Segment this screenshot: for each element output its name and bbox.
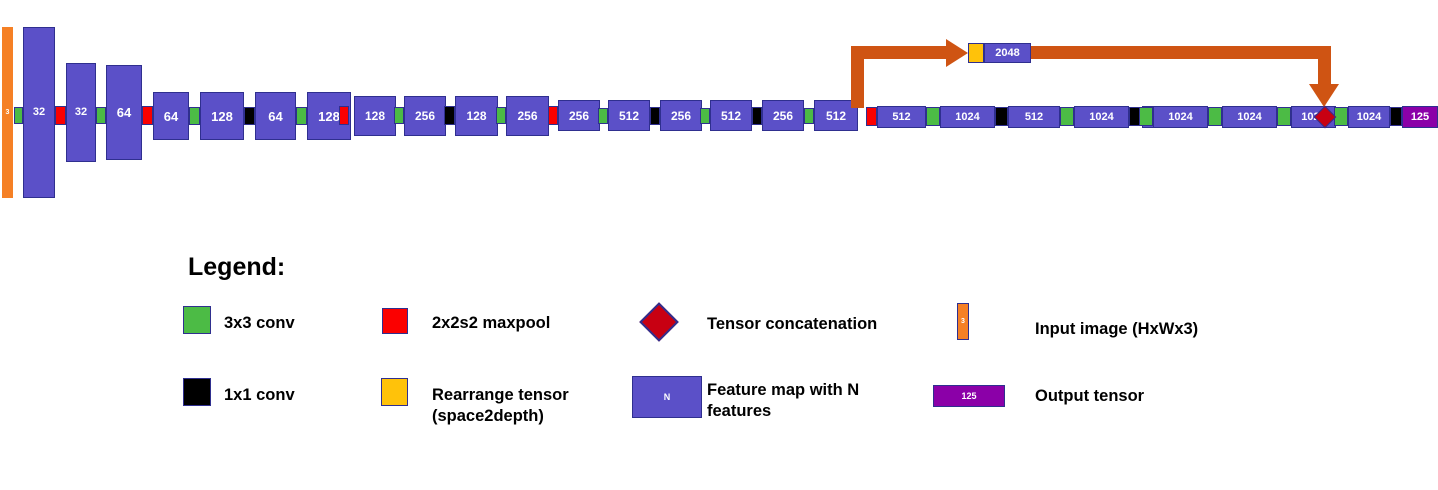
legend-swatch-conv1x1 [183,378,211,406]
legend-swatch-maxpool [382,308,408,334]
legend-label-feature-map: Feature map with N features [707,380,859,422]
legend-swatch-input-image: 3 [957,303,969,340]
legend-label-output-tensor: Output tensor [1035,386,1144,407]
legend-swatch-output-tensor: 125 [933,385,1005,407]
legend-swatch-rearrange [381,378,408,406]
legend-label-concat: Tensor concatenation [707,314,877,335]
legend-swatch-conv3x3 [183,306,211,334]
network-architecture-diagram: 3323264641286412812825612825625651225651… [0,0,1438,490]
legend-label-input-image: Input image (HxWx3) [1035,319,1198,340]
legend-swatch-feature-map: N [632,376,702,418]
legend-label-rearrange: Rearrange tensor (space2depth) [432,385,569,427]
legend: Legend: 3x3 conv 1x1 conv 2x2s2 maxpool … [0,0,1438,490]
legend-swatch-concat [639,302,679,342]
legend-label-maxpool: 2x2s2 maxpool [432,313,550,334]
legend-label-conv1x1: 1x1 conv [224,385,295,406]
legend-title: Legend: [188,253,285,282]
legend-label-conv3x3: 3x3 conv [224,313,295,334]
